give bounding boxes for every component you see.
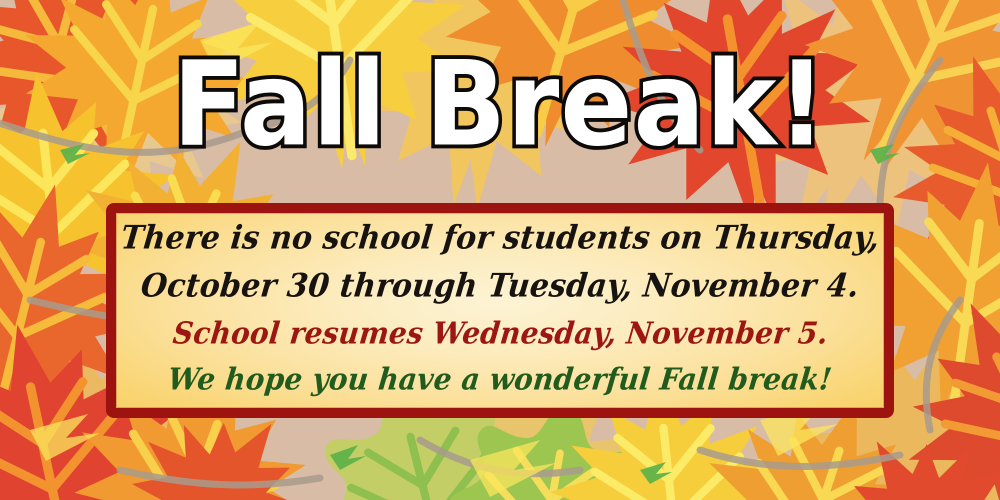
announcement-text-block: There is no school for students on Thurs… [116,213,884,408]
announcement-line-2: October 30 through Tuesday, November 4. [138,261,861,313]
announcement-line-3: School resumes Wednesday, November 5. [170,309,830,359]
announcement-line-1: There is no school for students on Thurs… [118,213,882,265]
fall-break-banner: Fall Break! There is no school for stude… [0,0,1000,500]
announcement-line-4: We hope you have a wonderful Fall break! [166,355,835,405]
announcement-message-box: There is no school for students on Thurs… [106,203,894,418]
